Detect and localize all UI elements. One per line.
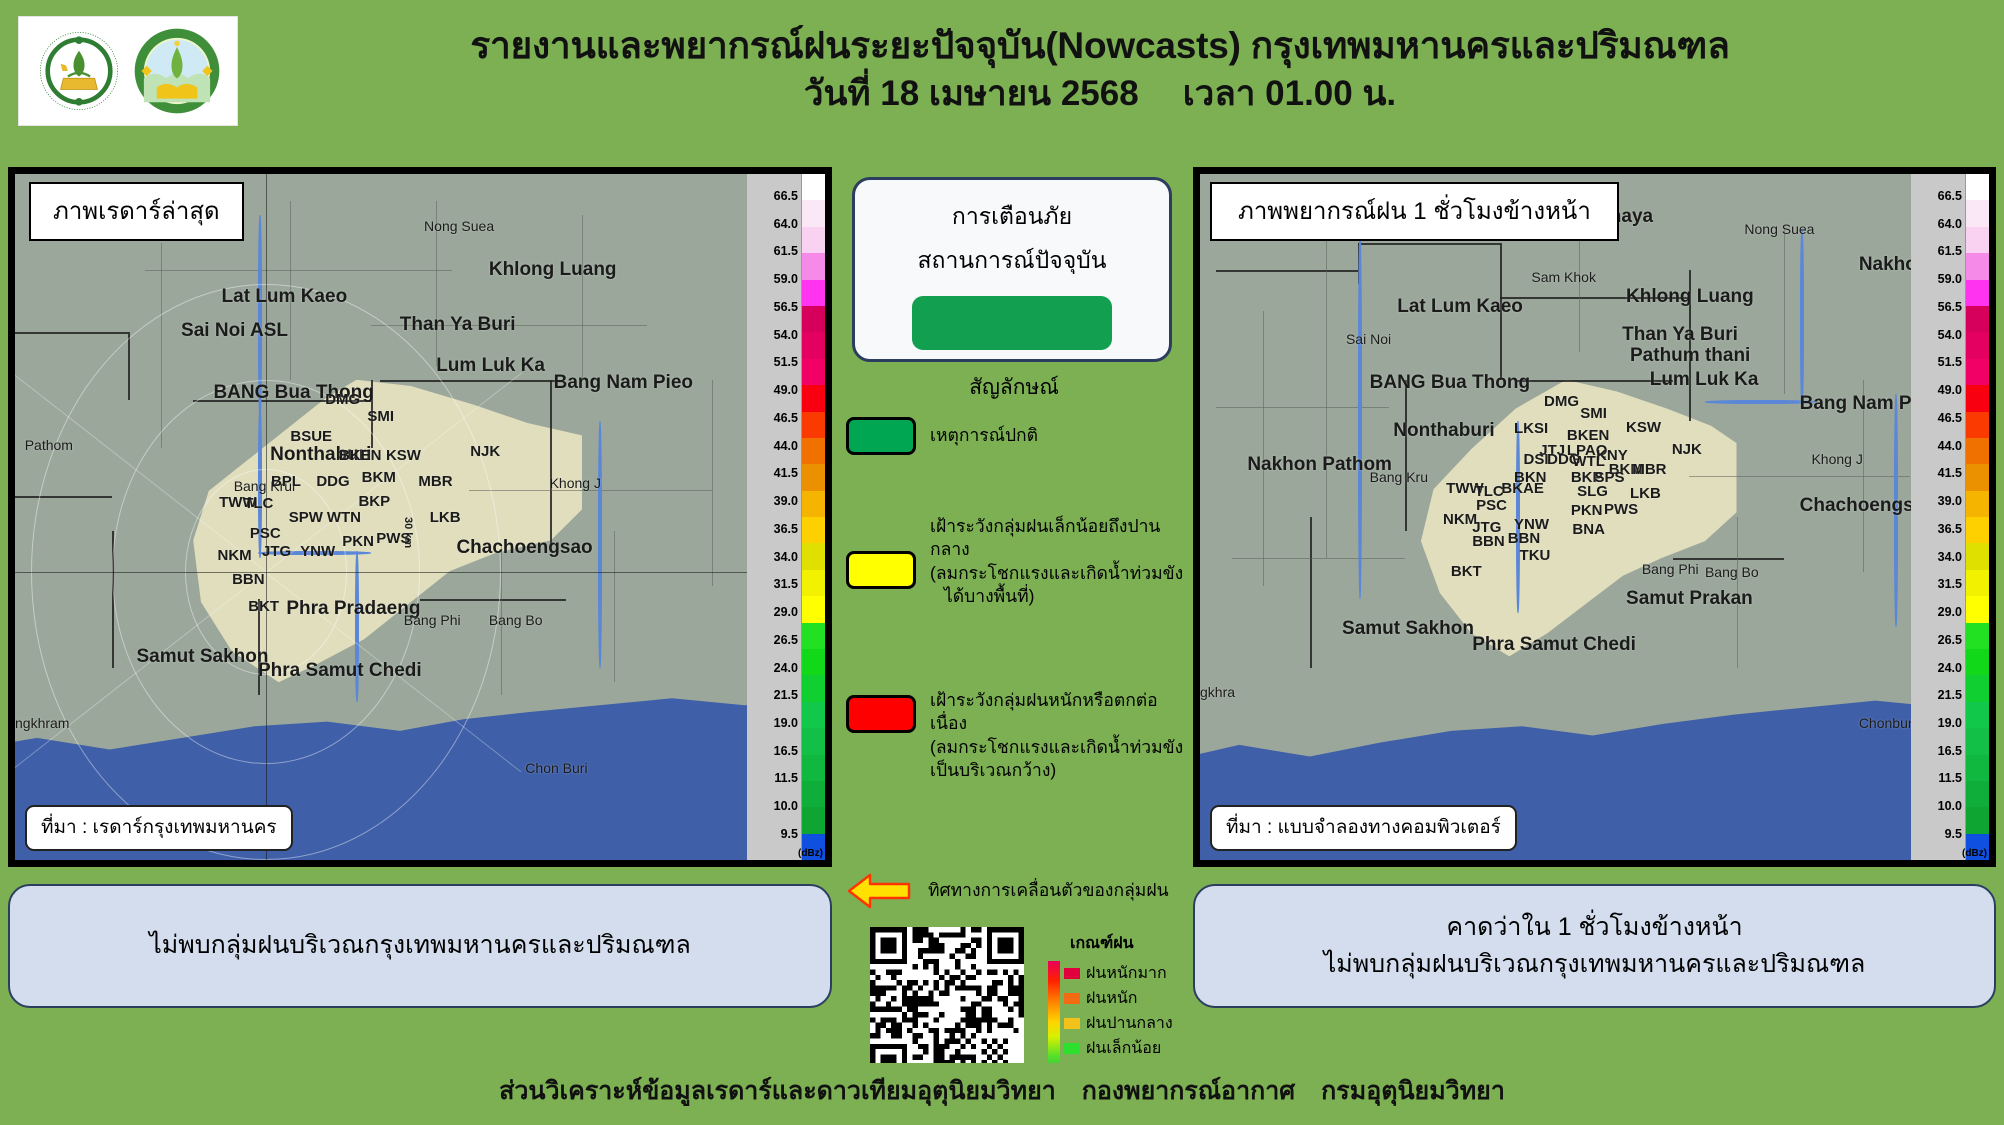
thai-meteorological-department-emblem xyxy=(131,25,223,117)
legend-text-line: (ลมกระโชกแรงและเกิดน้ำท่วมขัง xyxy=(930,563,1183,583)
map-place-label: Nong Suea xyxy=(424,219,494,233)
map-place-label: Lum Luk Ka xyxy=(436,356,545,375)
map-district-code: LKSI xyxy=(1514,421,1548,436)
dbz-scale-segment xyxy=(1966,174,1989,200)
dbz-scale-segment xyxy=(1966,200,1989,226)
dbz-scale-segment xyxy=(1966,702,1989,728)
dbz-scale-tick: 36.5 xyxy=(1938,522,1962,536)
legend-swatch-red xyxy=(846,695,916,733)
caption-line: คาดว่าใน 1 ชั่วโมงข้างหน้า xyxy=(1446,909,1742,947)
map-district-code: PSC xyxy=(1476,498,1507,513)
map-district-code: PSC xyxy=(250,526,281,541)
dbz-scale-segment xyxy=(1966,517,1989,543)
dbz-scale-tick: 51.5 xyxy=(774,355,798,369)
one-hour-forecast-panel[interactable]: 66.564.061.559.056.554.051.549.046.544.0… xyxy=(1193,167,1996,867)
map-place-label: Bang Kru xyxy=(1370,470,1428,484)
footer-part-3: กรมอุตุนิยมวิทยา xyxy=(1321,1077,1505,1105)
map-place-label: Than Ya Buri xyxy=(1622,325,1738,344)
dbz-scale-tick: 19.0 xyxy=(774,716,798,730)
report-date: วันที่ 18 เมษายน 2568 xyxy=(804,74,1139,113)
rain-key-chip xyxy=(1064,968,1080,979)
map-place-label: Sai Noi ASL xyxy=(181,321,288,340)
dbz-scale-segment xyxy=(802,174,825,200)
map-district-code: NKM xyxy=(218,548,252,563)
rain-key-item: ฝนปานกลาง xyxy=(1064,1011,1173,1036)
map-district-code: BKEN xyxy=(339,448,382,463)
map-district-code: BKM xyxy=(362,470,396,485)
map-district-code: DMG xyxy=(325,392,360,407)
dbz-scale-tick: 61.5 xyxy=(774,244,798,258)
map-place-label: BANG Bua Thong xyxy=(1370,373,1530,392)
province-boundary xyxy=(1216,270,1358,272)
dbz-scale-segment xyxy=(1966,227,1989,253)
map-district-code: PKN xyxy=(1571,503,1603,518)
map-district-code: DDG xyxy=(316,474,349,489)
legend-label-normal: เหตุการณ์ปกติ xyxy=(930,424,1038,447)
map-place-label: Nong Suea xyxy=(1744,222,1814,236)
dbz-scale-segment xyxy=(1966,491,1989,517)
footer-part-1: ส่วนวิเคราะห์ข้อมูลเรดาร์และดาวเทียมอุตุ… xyxy=(499,1077,1056,1105)
dbz-scale-tick: 54.0 xyxy=(774,328,798,342)
dbz-scale-segment xyxy=(802,702,825,728)
rain-key-label: ฝนหนัก xyxy=(1086,986,1137,1011)
dbz-scale-segment xyxy=(802,491,825,517)
map-place-label: Than Ya Buri xyxy=(400,315,516,334)
dbz-scale-segment xyxy=(802,728,825,754)
footer-text: ส่วนวิเคราะห์ข้อมูลเรดาร์และดาวเทียมอุตุ… xyxy=(499,1071,1505,1111)
dbz-scale-segment xyxy=(802,464,825,490)
map-district-code: BBN xyxy=(232,572,265,587)
dbz-scale-tick: 39.0 xyxy=(774,494,798,508)
map-place-label: Bang Nam Pieo xyxy=(554,373,693,392)
map-district-code: BBN xyxy=(1472,534,1505,549)
dbz-scale-tick: 46.5 xyxy=(1938,411,1962,425)
map-district-code: YNW xyxy=(300,544,335,559)
dbz-scale-segment xyxy=(802,543,825,569)
dbz-scale-tick: 26.5 xyxy=(774,633,798,647)
dbz-scale-segment xyxy=(802,570,825,596)
map-district-code: SLG xyxy=(1577,484,1608,499)
rain-key-chip xyxy=(1064,993,1080,1004)
dbz-scale-tick: 9.5 xyxy=(1945,827,1962,841)
page-footer: ส่วนวิเคราะห์ข้อมูลเรดาร์และดาวเทียมอุตุ… xyxy=(0,1063,2004,1125)
chao-phraya-river xyxy=(1800,229,1804,407)
dbz-scale-segment xyxy=(802,359,825,385)
dbz-scale-segment xyxy=(1966,675,1989,701)
dbz-scale-tick: 61.5 xyxy=(1938,244,1962,258)
dbz-scale-tick: 66.5 xyxy=(774,189,798,203)
map-district-code: JTG xyxy=(262,544,291,559)
dbz-scale-tick: 21.5 xyxy=(1938,688,1962,702)
map-place-label: Bang Phi xyxy=(404,613,461,627)
dbz-scale-segment xyxy=(802,755,825,781)
dbz-scale-segment xyxy=(1966,359,1989,385)
district-boundary xyxy=(145,270,453,271)
map-place-label: Phra Samut Chedi xyxy=(258,661,422,680)
map-district-code: PWS xyxy=(376,531,410,546)
dbz-scale-segment xyxy=(802,623,825,649)
dbz-scale-segment xyxy=(1966,649,1989,675)
district-boundary xyxy=(1232,558,1406,559)
dbz-scale-segment xyxy=(802,227,825,253)
map-place-label: Chonburi xyxy=(1859,716,1916,730)
right-panel-source: ที่มา : แบบจำลองทางคอมพิวเตอร์ xyxy=(1210,805,1517,851)
rain-key-label: ฝนหนักมาก xyxy=(1086,961,1167,986)
map-district-code: KSW xyxy=(386,448,421,463)
right-panel-heading: ภาพพยากรณ์ฝน 1 ชั่วโมงข้างหน้า xyxy=(1210,182,1619,241)
map-district-code: BKP xyxy=(358,494,390,509)
rain-key-item: ฝนหนักมาก xyxy=(1064,961,1167,986)
dbz-scale-segment xyxy=(802,675,825,701)
map-district-code: PWS xyxy=(1604,502,1638,517)
radar-crosshair-vertical xyxy=(266,174,267,860)
dbz-scale-tick: 24.0 xyxy=(774,661,798,675)
district-boundary xyxy=(1689,476,1910,477)
dbz-scale-segment xyxy=(1966,755,1989,781)
map-place-label: Phra Samut Chedi xyxy=(1472,635,1636,654)
dbz-unit-label: (dBz) xyxy=(798,848,823,859)
rain-key-item: ฝนเล็กน้อย xyxy=(1064,1036,1161,1061)
dbz-scale-segment xyxy=(1966,570,1989,596)
map-district-code: WTL xyxy=(1572,454,1604,469)
alert-title-line-1: การเตือนภัย xyxy=(952,199,1072,235)
dbz-scale-segment xyxy=(1966,253,1989,279)
legend-swatch-yellow xyxy=(846,551,916,589)
dbz-scale-segment xyxy=(802,517,825,543)
map-district-code: DSI xyxy=(1523,452,1548,467)
rain-key-label: ฝนเล็กน้อย xyxy=(1086,1036,1161,1061)
dbz-scale-segment xyxy=(802,649,825,675)
map-district-code: PKN xyxy=(342,534,374,549)
map-district-code: LKB xyxy=(1630,486,1661,501)
rain-key-title: เกณฑ์ฝน xyxy=(1070,931,1194,956)
dbz-scale-segment xyxy=(1966,412,1989,438)
legend-text-line: ได้บางพื้นที่) xyxy=(930,585,1190,608)
dbz-scale-segment xyxy=(802,781,825,807)
left-panel-caption: ไม่พบกลุ่มฝนบริเวณกรุงเทพมหานครและปริมณฑ… xyxy=(8,884,832,1008)
legend-swatch-green xyxy=(846,417,916,455)
dbz-scale-segment xyxy=(802,438,825,464)
dbz-scale-segment xyxy=(802,596,825,622)
province-boundary xyxy=(1405,380,1407,531)
tha-chin-river xyxy=(1358,229,1362,599)
alert-title-line-2: สถานการณ์ปัจจุบัน xyxy=(917,243,1106,279)
center-information-column: การเตือนภัย สถานการณ์ปัจจุบัน สัญลักษณ์ … xyxy=(838,167,1190,1047)
agency-logos xyxy=(18,16,238,126)
map-place-label: Chon Buri xyxy=(525,761,587,775)
dbz-scale-tick: 51.5 xyxy=(1938,355,1962,369)
map-place-label: Khlong Luang xyxy=(489,260,617,279)
map-place-label: Bang Phi xyxy=(1642,562,1699,576)
map-place-label: gkhra xyxy=(1200,685,1235,699)
dbz-scale-tick: 64.0 xyxy=(774,217,798,231)
legend-label-movement: ทิศทางการเคลื่อนตัวของกลุ่มฝน xyxy=(928,879,1169,902)
river-east xyxy=(598,421,602,668)
dbz-scale-tick: 29.0 xyxy=(1938,605,1962,619)
dbz-scale-tick: 34.0 xyxy=(774,550,798,564)
dbz-scale-tick: 36.5 xyxy=(774,522,798,536)
map-district-code: NJK xyxy=(470,444,500,459)
map-place-label: Lum Luk Ka xyxy=(1650,370,1759,389)
dbz-scale-tick: 41.5 xyxy=(1938,466,1962,480)
dbz-scale-segment xyxy=(1966,438,1989,464)
dbz-scale-segment xyxy=(1966,807,1989,833)
forecast-map-canvas[interactable]: 66.564.061.559.056.554.051.549.046.544.0… xyxy=(1200,174,1989,860)
dbz-scale-tick: 44.0 xyxy=(774,439,798,453)
map-place-label: Bang Bo xyxy=(489,613,543,627)
dbz-scale-tick: 34.0 xyxy=(1938,550,1962,564)
dbz-scale-tick: 29.0 xyxy=(774,605,798,619)
province-boundary xyxy=(1673,558,1783,560)
dbz-scale-tick: 10.0 xyxy=(774,799,798,813)
legend-text-line: เหตุการณ์ปกติ xyxy=(930,425,1038,445)
dbz-scale-tick: 64.0 xyxy=(1938,217,1962,231)
dbz-scale-segment xyxy=(1966,728,1989,754)
dbz-scale-tick: 56.5 xyxy=(1938,300,1962,314)
map-district-code: LKB xyxy=(430,510,461,525)
dbz-scale-segment xyxy=(802,306,825,332)
dbz-scale-tick: 59.0 xyxy=(774,272,798,286)
page-title: รายงานและพยากรณ์ฝนระยะปัจจุบัน(Nowcasts)… xyxy=(250,22,1950,117)
legend-item-normal: เหตุการณ์ปกติ xyxy=(846,417,1190,455)
rain-key-item: ฝนหนัก xyxy=(1064,986,1137,1011)
dbz-scale-segment xyxy=(1966,781,1989,807)
legend-item-light-moderate: เฝ้าระวังกลุ่มฝนเล็กน้อยถึงปานกลาง (ลมกร… xyxy=(846,515,1190,608)
map-place-label: Khlong Luang xyxy=(1626,287,1754,306)
dbz-scale-segment xyxy=(1966,543,1989,569)
legend-label-light-moderate: เฝ้าระวังกลุ่มฝนเล็กน้อยถึงปานกลาง (ลมกร… xyxy=(930,515,1190,608)
map-district-code: BKT xyxy=(248,599,279,614)
bangkok-metropolitan-emblem xyxy=(33,25,125,117)
map-district-code: BKAE xyxy=(1501,481,1544,496)
caption-line: ไม่พบกลุ่มฝนบริเวณกรุงเทพมหานครและปริมณฑ… xyxy=(149,927,691,965)
dbz-scale-tick: 49.0 xyxy=(774,383,798,397)
district-boundary xyxy=(712,380,713,586)
dbz-scale-tick: 41.5 xyxy=(774,466,798,480)
radar-crosshair-horizontal xyxy=(15,572,760,573)
nowcast-report-page: รายงานและพยากรณ์ฝนระยะปัจจุบัน(Nowcasts)… xyxy=(0,0,2004,1125)
footer-part-2: กองพยากรณ์อากาศ xyxy=(1082,1077,1295,1105)
map-district-code: SPW xyxy=(289,510,323,525)
legend-text-line: เฝ้าระวังกลุ่มฝนหนักหรือตกต่อเนื่อง xyxy=(930,690,1158,733)
legend-text-line: เป็นบริเวณกว้าง) xyxy=(930,760,1056,780)
dbz-scale-tick: 56.5 xyxy=(774,300,798,314)
dbz-scale-segment xyxy=(1966,464,1989,490)
caption-line: ไม่พบกลุ่มฝนบริเวณกรุงเทพมหานครและปริมณฑ… xyxy=(1324,946,1866,984)
map-place-label: ngkhram xyxy=(15,716,69,730)
district-boundary xyxy=(614,531,615,682)
map-place-label: Chachoengsao xyxy=(456,538,592,557)
left-panel-heading: ภาพเรดาร์ล่าสุด xyxy=(29,182,244,241)
dbz-scale-tick: 10.0 xyxy=(1938,799,1962,813)
map-district-code: BBN xyxy=(1508,531,1541,546)
province-boundary xyxy=(1310,517,1312,668)
map-place-label: Khong J xyxy=(550,476,601,490)
title-line-2: วันที่ 18 เมษายน 2568เวลา 01.00 น. xyxy=(250,71,1950,117)
dbz-scale-segment xyxy=(802,200,825,226)
dbz-scale-segment xyxy=(802,807,825,833)
dbz-color-scale-right: 66.564.061.559.056.554.051.549.046.544.0… xyxy=(1911,174,1989,860)
map-district-code: KSW xyxy=(1626,420,1661,435)
dbz-scale-tick: 66.5 xyxy=(1938,189,1962,203)
dbz-scale-tick-labels: 66.564.061.559.056.554.051.549.046.544.0… xyxy=(1911,174,1965,860)
dbz-scale-tick: 19.0 xyxy=(1938,716,1962,730)
legend-item-heavy: เฝ้าระวังกลุ่มฝนหนักหรือตกต่อเนื่อง (ลมก… xyxy=(846,689,1190,782)
dbz-scale-tick: 11.5 xyxy=(1938,771,1962,785)
dbz-scale-segment xyxy=(1966,306,1989,332)
dbz-scale-tick: 26.5 xyxy=(1938,633,1962,647)
dbz-scale-segment xyxy=(1966,385,1989,411)
dbz-scale-tick: 21.5 xyxy=(774,688,798,702)
map-district-code: BKEN xyxy=(1567,428,1610,443)
district-boundary xyxy=(582,215,583,380)
map-place-label: Samut Prakan xyxy=(1626,589,1753,608)
alert-status-indicator xyxy=(912,296,1112,350)
district-boundary xyxy=(1784,229,1785,394)
map-district-code: BPL xyxy=(271,474,301,489)
map-place-label: Sam Khok xyxy=(1531,270,1596,284)
district-boundary xyxy=(1216,407,1390,408)
map-place-label: Samut Sakhon xyxy=(1342,619,1474,638)
qr-code[interactable] xyxy=(870,927,1024,1081)
map-district-code: NJK xyxy=(1672,442,1702,457)
legend-label-heavy: เฝ้าระวังกลุ่มฝนหนักหรือตกต่อเนื่อง (ลมก… xyxy=(930,689,1190,782)
map-district-code: MBR xyxy=(418,474,452,489)
map-district-code: BKT xyxy=(1451,564,1482,579)
legend-text-line: (ลมกระโชกแรงและเกิดน้ำท่วมขัง xyxy=(930,737,1183,757)
province-boundary xyxy=(15,332,128,334)
dbz-scale-segment xyxy=(802,385,825,411)
legend-item-movement-direction: ทิศทางการเคลื่อนตัวของกลุ่มฝน xyxy=(846,871,1190,911)
dbz-scale-segment xyxy=(1966,280,1989,306)
dbz-scale-tick-labels: 66.564.061.559.056.554.051.549.046.544.0… xyxy=(747,174,801,860)
map-place-label: Nonthaburi xyxy=(1393,421,1494,440)
map-place-label: Khong J xyxy=(1811,452,1862,466)
legend-text-line: เฝ้าระวังกลุ่มฝนเล็กน้อยถึงปานกลาง xyxy=(930,516,1160,559)
dbz-scale-tick: 16.5 xyxy=(774,744,798,758)
title-line-1: รายงานและพยากรณ์ฝนระยะปัจจุบัน(Nowcasts)… xyxy=(250,22,1950,69)
dbz-scale-tick: 24.0 xyxy=(1938,661,1962,675)
radar-map-canvas[interactable]: 30 km 66.564.061.559.056.554.051.549.046… xyxy=(15,174,825,860)
district-boundary xyxy=(1326,215,1327,558)
dbz-scale-segment xyxy=(1966,623,1989,649)
map-place-label: Lat Lum Kaeo xyxy=(1397,297,1523,316)
dbz-scale-tick: 46.5 xyxy=(774,411,798,425)
map-place-label: Pathom xyxy=(25,438,73,452)
dbz-scale-segment xyxy=(1966,596,1989,622)
map-district-code: BSUE xyxy=(290,429,332,444)
dbz-scale-bar xyxy=(1965,174,1989,860)
dbz-scale-segment xyxy=(802,280,825,306)
legend-title: สัญลักษณ์ xyxy=(838,371,1190,404)
map-place-label: Lat Lum Kaeo xyxy=(222,287,348,306)
dbz-unit-label: (dBz) xyxy=(1962,848,1987,859)
dbz-scale-segment xyxy=(802,412,825,438)
dbz-scale-segment xyxy=(802,332,825,358)
dbz-scale-tick: 11.5 xyxy=(774,771,798,785)
dbz-scale-bar xyxy=(801,174,825,860)
map-place-label: Pathum thani xyxy=(1630,346,1750,365)
map-district-code: SMI xyxy=(1580,406,1607,421)
dbz-scale-segment xyxy=(1966,332,1989,358)
latest-radar-panel[interactable]: 30 km 66.564.061.559.056.554.051.549.046… xyxy=(8,167,832,867)
map-district-code: MBR xyxy=(1632,462,1666,477)
dbz-scale-tick: 44.0 xyxy=(1938,439,1962,453)
map-place-label: Bang Bo xyxy=(1705,565,1759,579)
dbz-scale-tick: 39.0 xyxy=(1938,494,1962,508)
rain-key-label: ฝนปานกลาง xyxy=(1086,1011,1173,1036)
dbz-scale-tick: 16.5 xyxy=(1938,744,1962,758)
map-district-code: TKU xyxy=(1520,548,1551,563)
rain-key-chip xyxy=(1064,1018,1080,1029)
dbz-scale-tick: 31.5 xyxy=(774,577,798,591)
map-place-label: Phra Pradaeng xyxy=(286,599,420,618)
legend-text-line: ทิศทางการเคลื่อนตัวของกลุ่มฝน xyxy=(928,880,1169,900)
page-header: รายงานและพยากรณ์ฝนระยะปัจจุบัน(Nowcasts)… xyxy=(0,0,2004,160)
map-place-label: Samut Sakhon xyxy=(137,647,269,666)
rain-key-chip xyxy=(1064,1043,1080,1054)
map-district-code: SMI xyxy=(367,409,394,424)
left-arrow-icon xyxy=(846,871,912,911)
report-time: เวลา 01.00 น. xyxy=(1183,74,1396,113)
left-panel-source: ที่มา : เรดาร์กรุงเทพมหานคร xyxy=(25,805,293,851)
dbz-color-scale-left: 66.564.061.559.056.554.051.549.046.544.0… xyxy=(747,174,825,860)
dbz-scale-tick: 49.0 xyxy=(1938,383,1962,397)
dbz-scale-tick: 9.5 xyxy=(781,827,798,841)
district-boundary xyxy=(1263,311,1264,585)
dbz-scale-tick: 59.0 xyxy=(1938,272,1962,286)
map-district-code: BNA xyxy=(1572,522,1605,537)
dbz-scale-segment xyxy=(802,253,825,279)
map-place-label: Sai Noi xyxy=(1346,332,1391,346)
map-district-code: WTN xyxy=(327,510,361,525)
right-panel-caption: คาดว่าใน 1 ชั่วโมงข้างหน้า ไม่พบกลุ่มฝนบ… xyxy=(1193,884,1996,1008)
province-boundary xyxy=(550,380,552,545)
dbz-scale-tick: 31.5 xyxy=(1938,577,1962,591)
map-district-code: DMG xyxy=(1544,394,1579,409)
dbz-scale-tick: 54.0 xyxy=(1938,328,1962,342)
rain-intensity-key: เกณฑ์ฝน ฝนหนักมาก ฝนหนัก ฝนปานกลาง xyxy=(1044,931,1194,1085)
map-district-code: TLC xyxy=(244,496,273,511)
current-alert-card: การเตือนภัย สถานการณ์ปัจจุบัน xyxy=(852,177,1172,362)
province-boundary xyxy=(1358,243,1500,245)
